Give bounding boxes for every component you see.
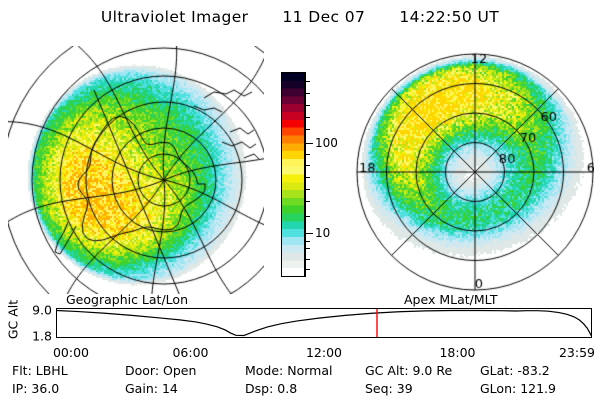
colorbar-minor-tick [305, 177, 310, 178]
orbit-altitude-curve [57, 309, 591, 337]
status-row-primary: Flt: LBHLDoor: OpenMode: NormalGC Alt: 9… [0, 363, 600, 381]
orbit-ytick-max: 9.0 [18, 303, 52, 318]
status-field: GLat: -83.2 [480, 363, 550, 378]
status-field-value: Normal [287, 363, 332, 378]
colorbar-minor-tick [305, 201, 310, 202]
apex-aurora-image[interactable] [344, 46, 594, 294]
status-field-label: Dsp: [245, 381, 277, 396]
colorbar-minor-tick [305, 81, 310, 82]
colorbar: photon cm-2s-1 10010 [268, 60, 338, 290]
status-field-label: GLon: [480, 381, 520, 396]
status-field-value: 39 [397, 381, 413, 396]
orbit-time-tick-label: 00:00 [53, 345, 89, 360]
colorbar-minor-tick [305, 259, 310, 260]
colorbar-minor-tick [305, 129, 310, 130]
colorbar-gradient-box [281, 72, 305, 277]
status-field: GLon: 121.9 [480, 381, 556, 396]
colorbar-gradient [282, 73, 304, 276]
status-field: Flt: LBHL [12, 363, 68, 378]
colorbar-minor-tick [305, 93, 310, 94]
instrument-title: Ultraviolet Imager [101, 8, 249, 26]
status-field-label: GC Alt: [365, 363, 413, 378]
colorbar-minor-tick [305, 117, 310, 118]
colorbar-major-tick [305, 143, 313, 144]
colorbar-minor-tick [305, 105, 310, 106]
orbit-plot-box[interactable] [56, 308, 592, 338]
colorbar-minor-tick [305, 248, 310, 249]
colorbar-major-tick [305, 233, 313, 234]
geographic-aurora-image[interactable] [8, 46, 264, 294]
colorbar-tick-label: 10 [315, 227, 330, 239]
status-field-value: 36.0 [31, 381, 59, 396]
orbit-time-tick-label: 18:00 [439, 345, 475, 360]
orbit-time-tick-label: 23:59 [559, 345, 595, 360]
status-field: Door: Open [125, 363, 196, 378]
orbit-ytick-min: 1.8 [18, 329, 52, 344]
status-field-label: Gain: [125, 381, 162, 396]
status-readout: Flt: LBHLDoor: OpenMode: NormalGC Alt: 9… [0, 363, 600, 399]
status-field-label: Door: [125, 363, 163, 378]
orbit-curve-line [57, 311, 591, 336]
status-field: Gain: 14 [125, 381, 178, 396]
status-field-value: LBHL [36, 363, 68, 378]
colorbar-minor-tick [305, 189, 310, 190]
colorbar-minor-tick [305, 269, 310, 270]
right-panel-caption: Apex MLat/MLT [404, 292, 498, 307]
status-field-label: IP: [12, 381, 31, 396]
status-field: Dsp: 0.8 [245, 381, 297, 396]
colorbar-minor-tick [305, 165, 310, 166]
colorbar-minor-tick [305, 216, 310, 217]
status-field-label: Mode: [245, 363, 287, 378]
orbit-time-tick-label: 06:00 [172, 345, 208, 360]
orbit-altitude-strip: Geographic Lat/Lon Apex MLat/MLT GC Alt … [0, 292, 600, 346]
colorbar-minor-tick [305, 241, 310, 242]
observation-date: 11 Dec 07 [282, 8, 365, 26]
status-field-value: 121.9 [520, 381, 556, 396]
status-field-label: Seq: [365, 381, 397, 396]
status-field-value: 0.8 [277, 381, 297, 396]
colorbar-axis-line [305, 72, 306, 277]
status-field: GC Alt: 9.0 Re [365, 363, 452, 378]
status-field-value: 14 [162, 381, 178, 396]
status-field-label: GLat: [480, 363, 517, 378]
status-field: Mode: Normal [245, 363, 332, 378]
status-field-value: -83.2 [517, 363, 549, 378]
status-row-secondary: IP: 36.0Gain: 14Dsp: 0.8Seq: 39GLon: 121… [0, 381, 600, 399]
colorbar-tick-label: 100 [315, 137, 338, 149]
orbit-time-axis: 00:0006:0012:0018:0023:59 [0, 345, 600, 361]
geographic-image-panel[interactable] [8, 46, 264, 294]
left-panel-caption: Geographic Lat/Lon [66, 292, 188, 307]
status-field-value: Open [163, 363, 196, 378]
status-field: IP: 36.0 [12, 381, 59, 396]
status-field-value: 9.0 Re [413, 363, 453, 378]
status-field: Seq: 39 [365, 381, 413, 396]
status-field-label: Flt: [12, 363, 36, 378]
uvi-viewer-window: Ultraviolet Imager 11 Dec 07 14:22:50 UT… [0, 0, 600, 400]
apex-polar-panel[interactable] [344, 46, 594, 294]
header-bar: Ultraviolet Imager 11 Dec 07 14:22:50 UT [0, 4, 600, 30]
observation-time: 14:22:50 UT [399, 8, 499, 26]
colorbar-minor-tick [305, 154, 310, 155]
orbit-time-tick-label: 12:00 [306, 345, 342, 360]
